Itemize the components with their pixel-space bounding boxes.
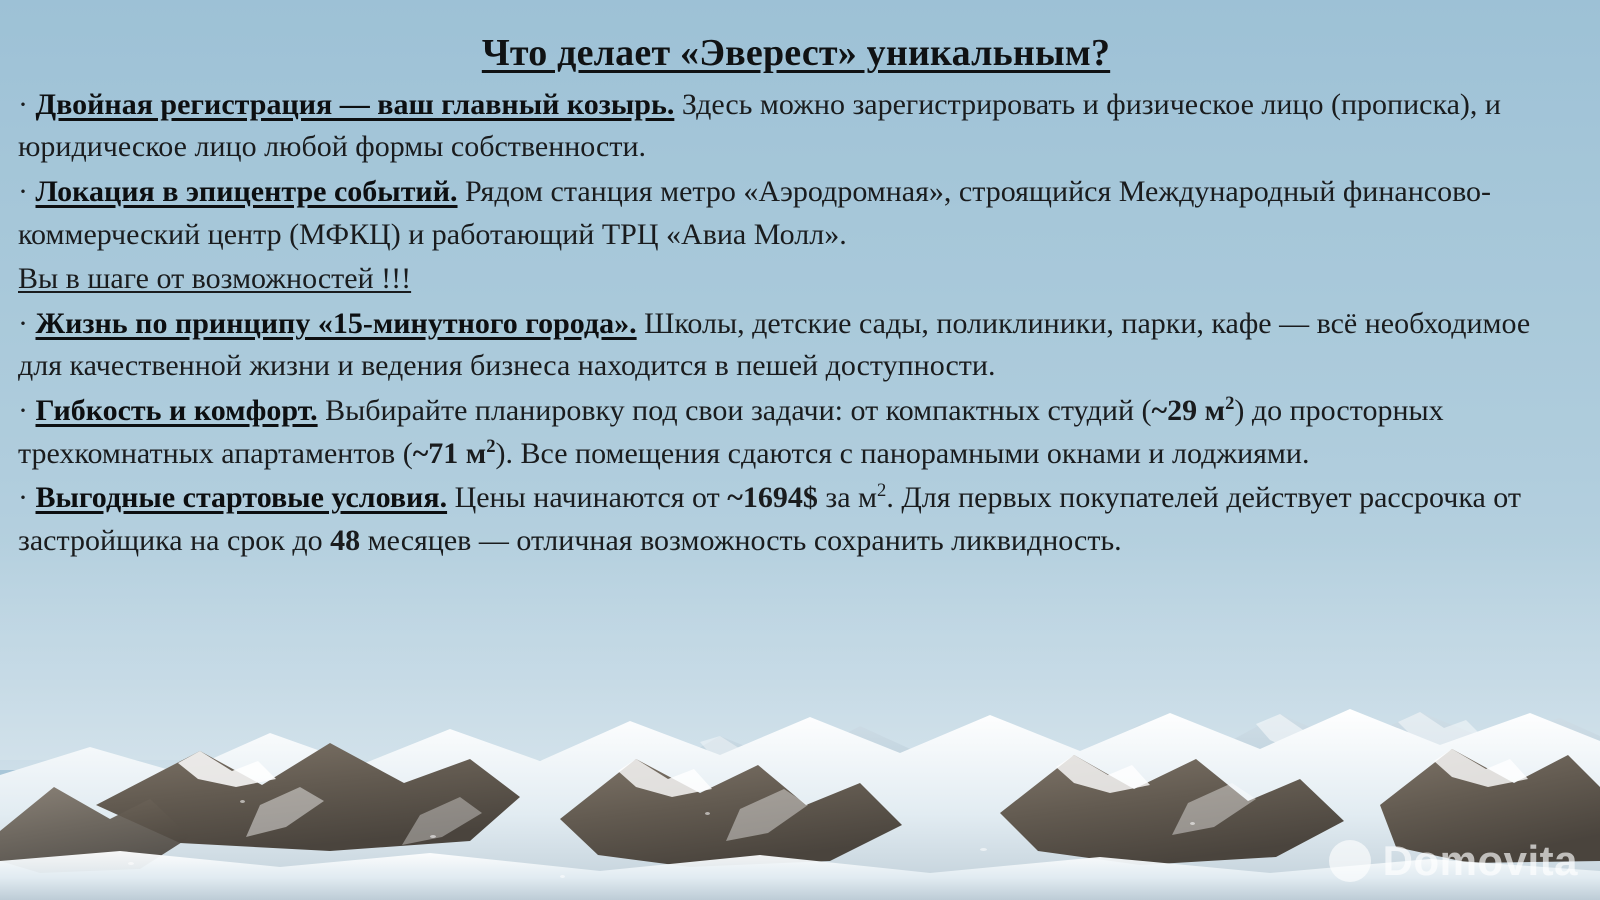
slide-text-content: Что делает «Эверест» уникальным? · Двойн… xyxy=(0,0,1600,564)
presentation-slide: Что делает «Эверест» уникальным? · Двойн… xyxy=(0,0,1600,900)
bullet-marker: · xyxy=(18,175,28,208)
bullet-body-flexibility-part3: ). Все помещения сдаются с панорамными о… xyxy=(496,437,1310,470)
bullet-lead-flexibility: Гибкость и комфорт. xyxy=(36,394,318,427)
area-unit-superscript-three-room: 2 xyxy=(486,436,495,457)
bullet-lead-starting-conditions: Выгодные стартовые условия. xyxy=(36,481,448,514)
bullet-marker: · xyxy=(18,481,28,514)
area-value-three-room: ~71 м xyxy=(413,437,487,470)
near-mountain-ridge xyxy=(0,655,1600,900)
emphasis-line-text: Вы в шаге от возможностей !!! xyxy=(18,262,411,295)
bullet-lead-15-minute-city: Жизнь по принципу «15-минутного города». xyxy=(36,307,637,340)
bullet-item-location: · Локация в эпицентре событий. Рядом ста… xyxy=(18,171,1574,256)
bullet-body-price-part2: за м xyxy=(818,481,877,514)
price-unit-superscript: 2 xyxy=(877,480,886,501)
bullet-item-15-minute-city: · Жизнь по принципу «15-минутного города… xyxy=(18,303,1574,388)
installment-months-value: 48 xyxy=(330,524,360,557)
bullet-marker: · xyxy=(18,394,28,427)
bullet-item-dual-registration: · Двойная регистрация — ваш главный козы… xyxy=(18,84,1574,169)
bullet-body-price-part4: месяцев — отличная возможность сохранить… xyxy=(360,524,1121,557)
bullet-lead-location: Локация в эпицентре событий. xyxy=(36,175,458,208)
area-value-studio: ~29 м xyxy=(1152,394,1226,427)
bullet-marker: · xyxy=(18,88,28,121)
area-unit-superscript-studio: 2 xyxy=(1225,393,1234,414)
bullet-lead-dual-registration: Двойная регистрация — ваш главный козырь… xyxy=(36,88,675,121)
bullet-item-flexibility: · Гибкость и комфорт. Выбирайте планиров… xyxy=(18,390,1574,475)
bullet-item-starting-conditions: · Выгодные стартовые условия. Цены начин… xyxy=(18,477,1574,562)
price-value: ~1694$ xyxy=(727,481,818,514)
page-title: Что делает «Эверест» уникальным? xyxy=(18,34,1574,74)
emphasis-line-opportunity: Вы в шаге от возможностей !!! xyxy=(18,258,1574,301)
bullet-body-price-part1: Цены начинаются от xyxy=(447,481,727,514)
bullet-marker: · xyxy=(18,307,28,340)
bullet-body-flexibility-part1: Выбирайте планировку под свои задачи: от… xyxy=(318,394,1152,427)
